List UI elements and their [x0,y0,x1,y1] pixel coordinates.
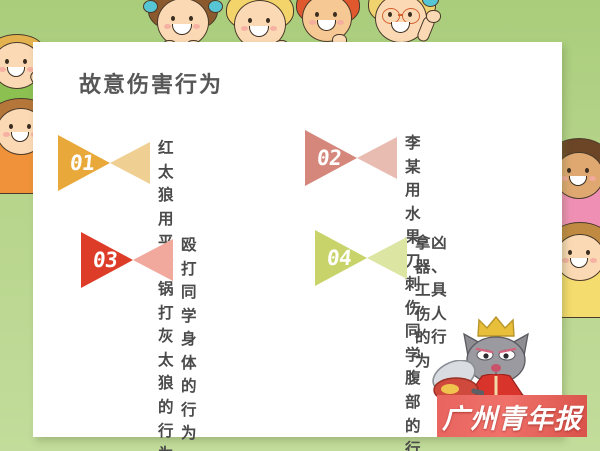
item-number: 04 [326,246,353,270]
item-label: 红太狼用平底锅 打灰太狼的行为 [158,137,174,451]
watermark-banner: 广州青年报 [437,395,587,437]
bowtie-marker: 02 [305,130,397,186]
poster-stage: 故意伤害行为 01 红太狼用平底锅 打灰太狼的行为 02 李某用水果刀刺伤 同学… [0,0,600,451]
bowtie-marker: 01 [58,135,150,191]
page-title: 故意伤害行为 [79,74,223,96]
bowtie-marker: 04 [315,230,407,286]
watermark-text: 广州青年报 [437,395,587,437]
item-number: 02 [316,146,343,170]
bowtie-marker: 03 [81,232,173,288]
item-label: 殴打同学身体 的行为 [181,234,197,446]
item-number: 03 [92,248,119,272]
item-number: 01 [69,151,96,175]
